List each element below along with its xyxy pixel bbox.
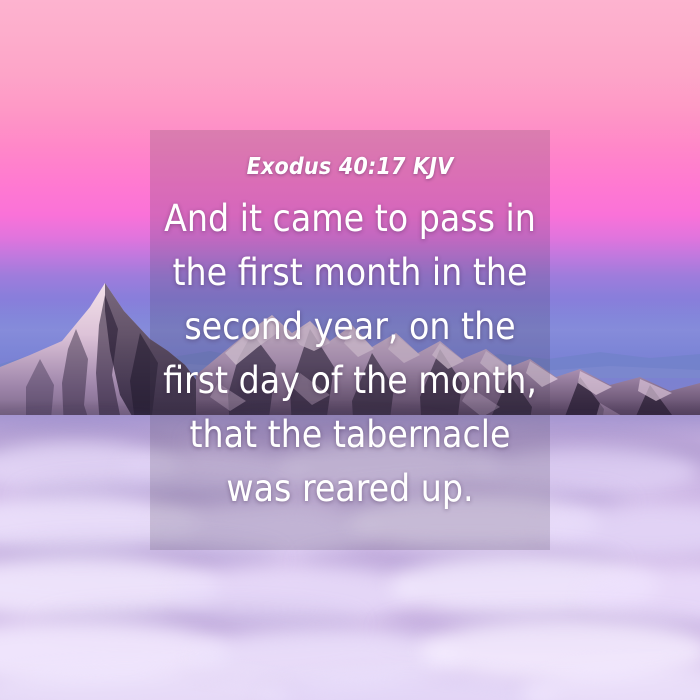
verse-line: second year, on the bbox=[158, 300, 542, 354]
verse-panel: Exodus 40:17 KJV And it came to pass in … bbox=[150, 130, 550, 550]
verse-line: was reared up. bbox=[158, 462, 542, 516]
verse-image-canvas: Exodus 40:17 KJV And it came to pass in … bbox=[0, 0, 700, 700]
verse-reference: Exodus 40:17 KJV bbox=[150, 154, 550, 180]
verse-line: first day of the month, bbox=[158, 354, 542, 408]
verse-line: the first month in the bbox=[158, 246, 542, 300]
verse-line: that the tabernacle bbox=[158, 408, 542, 462]
verse-text: And it came to pass in the first month i… bbox=[158, 192, 542, 516]
verse-line: And it came to pass in bbox=[158, 192, 542, 246]
